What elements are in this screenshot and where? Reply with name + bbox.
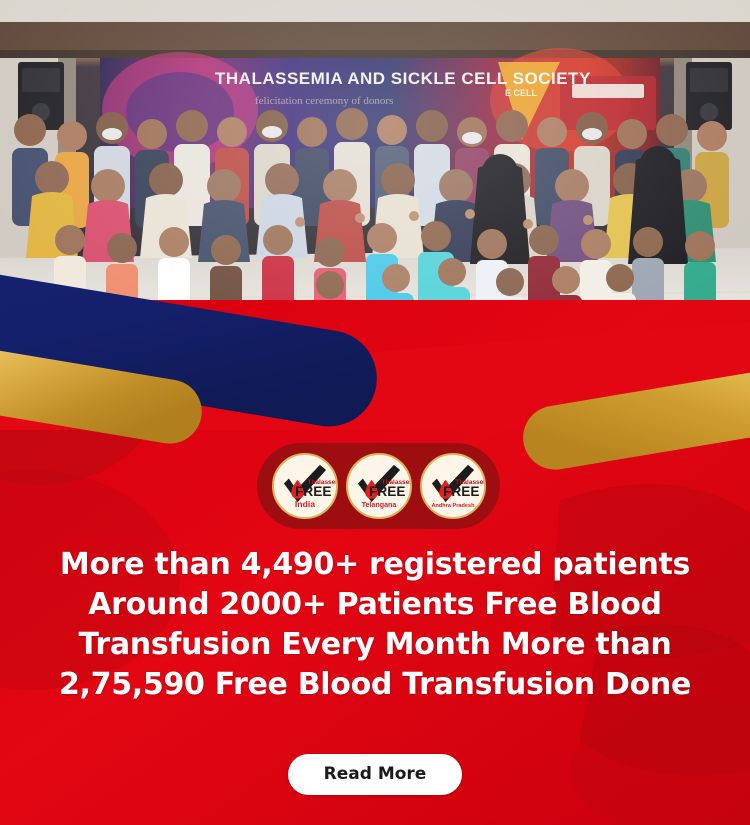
badge-main-text: FREE: [295, 484, 331, 499]
badge-telangana[interactable]: Thalassemia FREE Telangana: [346, 453, 412, 519]
banner-content: Thalassemia FREE India Thalassemia FREE …: [0, 0, 750, 825]
badge-region: Andhra Pradesh: [431, 503, 475, 509]
checkmark-blooddrop-icon: Thalassemia FREE Andhra Pradesh: [422, 455, 484, 517]
badge-main-text: FREE: [369, 484, 405, 499]
headline-text: More than 4,490+ registered patients Aro…: [25, 545, 725, 705]
badge-andhra-pradesh[interactable]: Thalassemia FREE Andhra Pradesh: [420, 453, 486, 519]
promo-banner: THALASSEMIA AND SICKLE CELL SOCIETY feli…: [0, 0, 750, 825]
badge-india[interactable]: Thalassemia FREE India: [272, 453, 338, 519]
badge-region: India: [294, 499, 314, 509]
read-more-button[interactable]: Read More: [288, 754, 463, 795]
checkmark-blooddrop-icon: Thalassemia FREE India: [274, 455, 336, 517]
certification-badges: Thalassemia FREE India Thalassemia FREE …: [257, 443, 500, 529]
badge-region: Telangana: [361, 501, 397, 509]
checkmark-blooddrop-icon: Thalassemia FREE Telangana: [348, 455, 410, 517]
badge-main-text: FREE: [443, 484, 479, 499]
cta-container: Read More: [0, 754, 750, 795]
